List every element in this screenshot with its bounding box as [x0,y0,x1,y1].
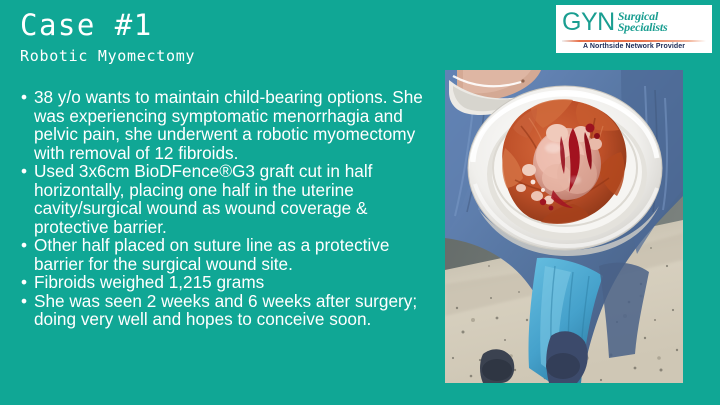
surgical-specimen-photo [445,70,683,383]
list-item: • She was seen 2 weeks and 6 weeks after… [14,292,438,329]
bullet-text: She was seen 2 weeks and 6 weeks after s… [34,292,438,329]
logo-divider-rule [562,40,706,42]
bullet-marker-icon: • [21,292,27,311]
bullet-marker-icon: • [21,273,27,292]
page-title: Case #1 [20,8,440,42]
list-item: • Used 3x6cm BioDFence®G3 graft cut in h… [14,162,438,236]
page-subtitle: Robotic Myomectomy [20,46,440,66]
slide-canvas: Case #1 Robotic Myomectomy GYN Surgical … [0,0,720,405]
logo-word-specialists: Specialists [618,22,668,33]
bullet-marker-icon: • [21,162,27,181]
bullet-marker-icon: • [21,88,27,107]
title-block: Case #1 Robotic Myomectomy [20,8,440,66]
bullet-text: Used 3x6cm BioDFence®G3 graft cut in hal… [34,162,438,236]
photo-graphic [445,70,683,383]
logo-subbrand: Surgical Specialists [618,11,668,33]
bullet-list: • 38 y/o wants to maintain child-bearing… [14,88,438,329]
bullet-marker-icon: • [21,236,27,255]
list-item: • 38 y/o wants to maintain child-bearing… [14,88,438,162]
gyn-surgical-specialists-logo: GYN Surgical Specialists A Northside Net… [556,5,712,53]
logo-wordmark: GYN Surgical Specialists [562,8,706,36]
bullet-text: Other half placed on suture line as a pr… [34,236,438,273]
list-item: • Other half placed on suture line as a … [14,236,438,273]
list-item: • Fibroids weighed 1,215 grams [14,273,438,292]
logo-brand-text: GYN [562,10,615,35]
logo-tagline: A Northside Network Provider [562,43,706,51]
bullet-text: Fibroids weighed 1,215 grams [34,273,438,292]
bullet-text: 38 y/o wants to maintain child-bearing o… [34,88,438,162]
